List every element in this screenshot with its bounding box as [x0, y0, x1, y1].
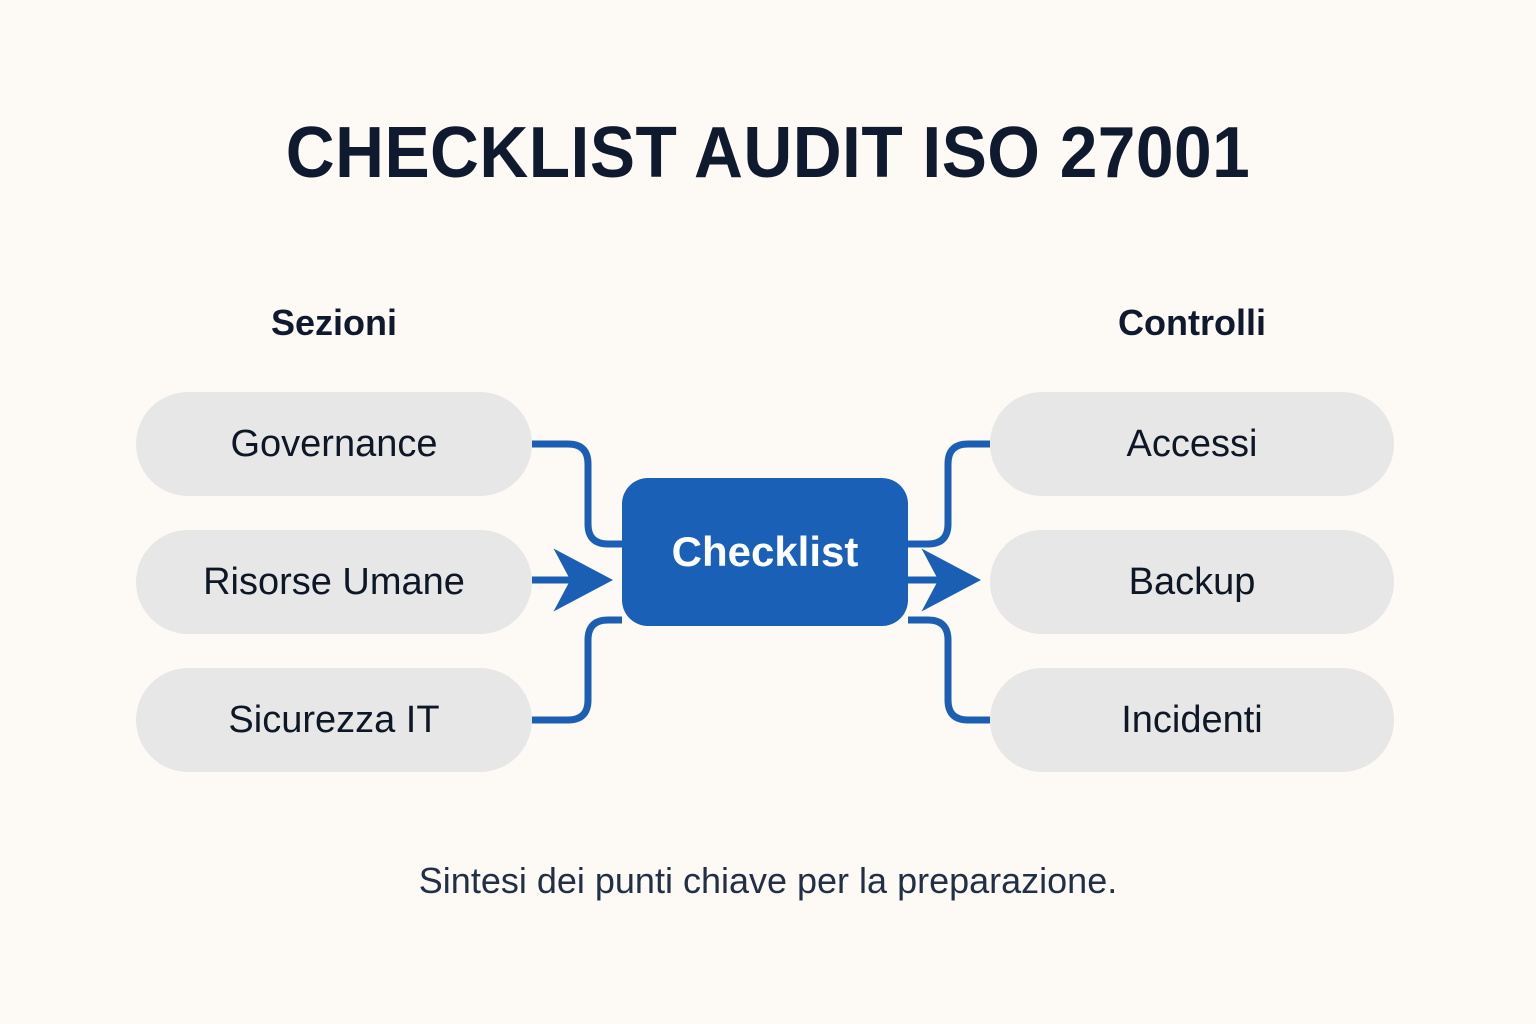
wire-sicurezza-it-to-checklist	[532, 620, 622, 720]
column-header-sezioni: Sezioni	[136, 302, 532, 344]
wire-governance-to-checklist	[532, 444, 622, 544]
section-pill-governance[interactable]: Governance	[136, 392, 532, 496]
column-header-controlli: Controlli	[990, 302, 1394, 344]
section-label: Governance	[230, 423, 437, 466]
section-label: Sicurezza IT	[228, 699, 439, 742]
wire-checklist-to-accessi	[908, 444, 990, 544]
page-caption: Sintesi dei punti chiave per la preparaz…	[0, 860, 1536, 902]
section-pill-sicurezza-it[interactable]: Sicurezza IT	[136, 668, 532, 772]
control-label: Backup	[1129, 561, 1256, 604]
diagram-canvas: CHECKLIST AUDIT ISO 27001 Sezioni Contro…	[0, 0, 1536, 1024]
page-title: CHECKLIST AUDIT ISO 27001	[46, 112, 1490, 194]
control-pill-backup[interactable]: Backup	[990, 530, 1394, 634]
control-label: Incidenti	[1121, 699, 1263, 742]
wire-checklist-to-incidenti	[908, 620, 990, 720]
center-node-label: Checklist	[672, 528, 859, 576]
control-label: Accessi	[1127, 423, 1258, 466]
section-pill-risorse-umane[interactable]: Risorse Umane	[136, 530, 532, 634]
section-label: Risorse Umane	[203, 561, 465, 604]
control-pill-incidenti[interactable]: Incidenti	[990, 668, 1394, 772]
center-node-checklist[interactable]: Checklist	[622, 478, 908, 626]
control-pill-accessi[interactable]: Accessi	[990, 392, 1394, 496]
